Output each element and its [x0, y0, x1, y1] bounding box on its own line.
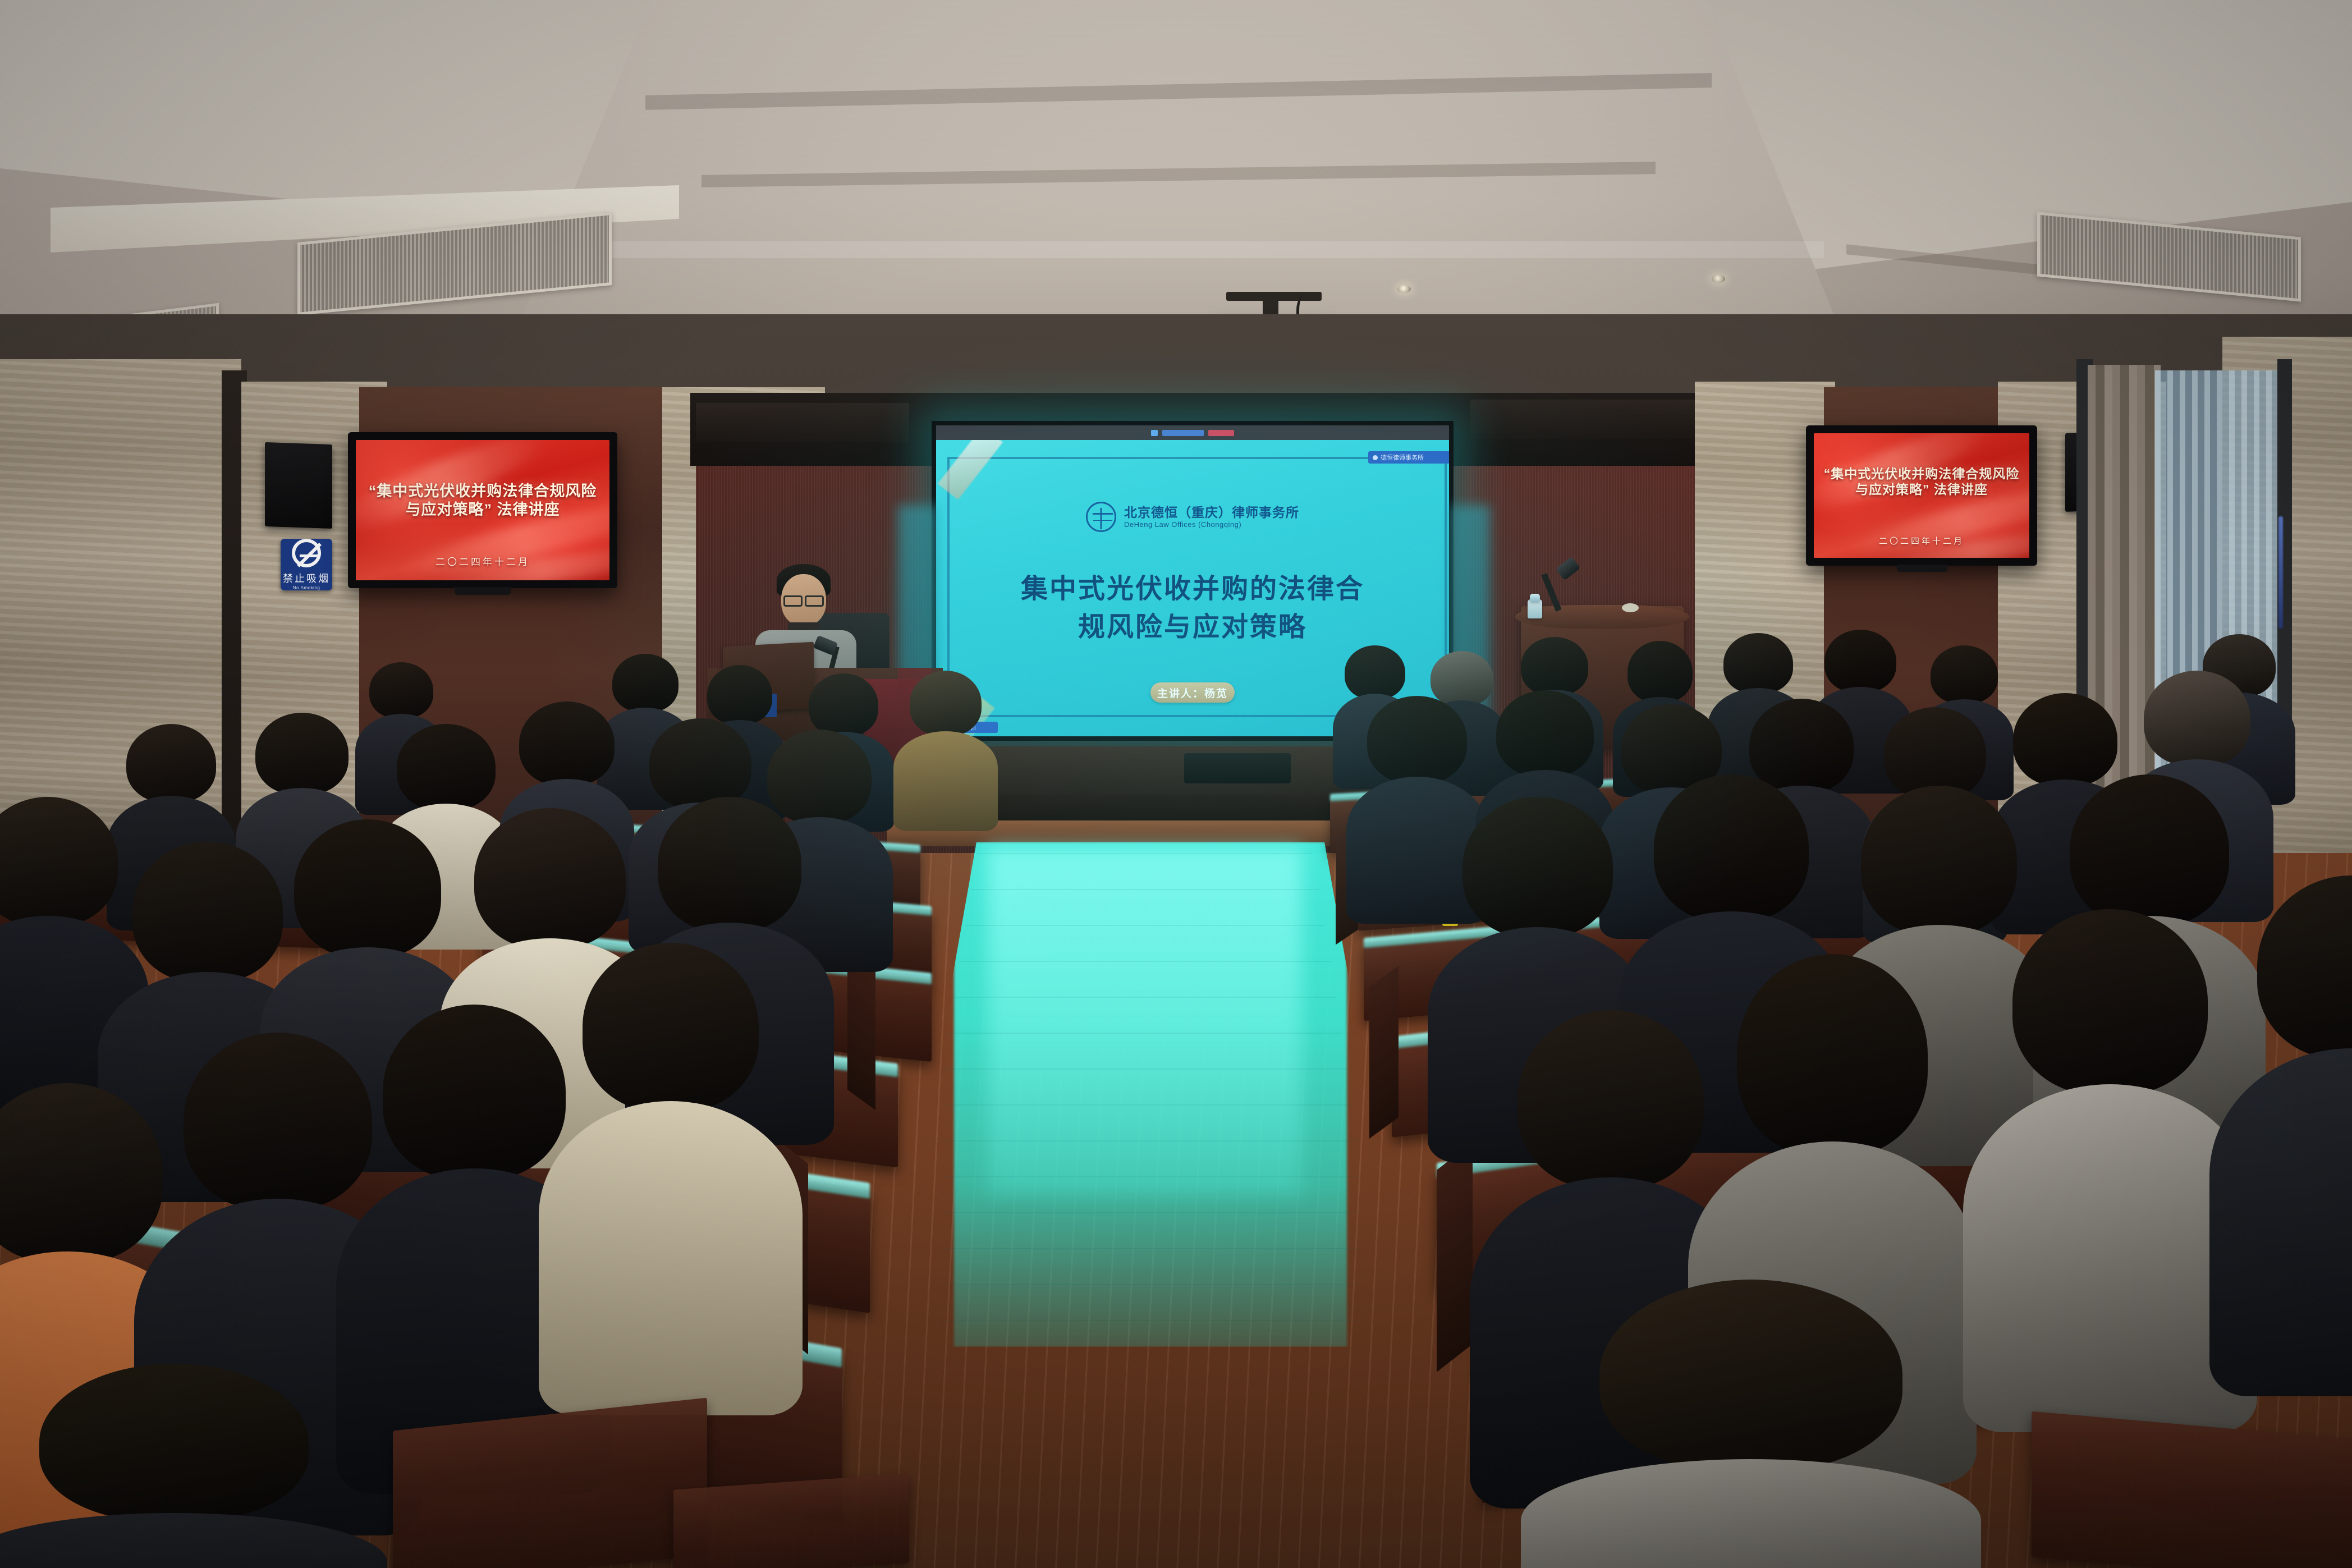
person-hair: [583, 943, 759, 1111]
downlight-6: [1712, 275, 1725, 283]
tv-right-date: 二〇二四年十二月: [1814, 535, 2029, 547]
person-hair: [2012, 909, 2208, 1094]
no-smoking-label-zh: 禁止吸烟: [283, 571, 330, 585]
person-hair: [474, 808, 626, 948]
person-hair: [2013, 693, 2117, 786]
tv-display-right: “集中式光伏收并购法律合规风险 与应对策略” 法律讲座 二〇二四年十二月: [1806, 425, 2037, 566]
bench-right-endcap-2: [1369, 966, 1399, 1139]
person-hair: [1517, 1010, 1704, 1189]
person-foreground-center: [1538, 1280, 1964, 1568]
person-front-17: [2222, 875, 2352, 1381]
tv-right-title: “集中式光伏收并购法律合规风险 与应对策略” 法律讲座: [1822, 466, 2020, 497]
taskbar-chip-title: [1162, 430, 1204, 436]
bench-right-endcap-3: [1437, 1142, 1473, 1372]
person-body: [893, 731, 998, 831]
firm-name-en: DeHeng Law Offices (Chongqing): [1124, 520, 1299, 529]
person-hair: [1931, 645, 1998, 704]
person-hair: [397, 724, 496, 810]
slide-firm-logo: 北京德恒（重庆）律师事务所 DeHeng Law Offices (Chongq…: [936, 502, 1449, 532]
person-hair: [2070, 774, 2229, 926]
person-hair: [126, 724, 216, 803]
person-hair: [369, 662, 433, 718]
soffit-panel-b: [1470, 400, 1695, 439]
person-body: [1521, 1459, 1981, 1568]
person-hair: [1345, 645, 1405, 699]
slide-title-line1: 集中式光伏收并购的法律合: [936, 570, 1449, 608]
person-hair: [1627, 641, 1693, 703]
tv-right-stand: [1897, 565, 1947, 572]
tv-left-stand: [455, 587, 511, 595]
person-hair: [1462, 797, 1613, 937]
no-smoking-sign: 禁止吸烟 No Smoking: [281, 539, 332, 590]
foreground-chair-right: [2032, 1411, 2352, 1568]
no-smoking-icon: [292, 539, 321, 567]
person-hair: [2257, 875, 2352, 1058]
slide-speaker-badge: 主讲人：杨苋: [1150, 682, 1235, 703]
aisle-plank-lines: [943, 853, 1358, 1336]
downlight-5: [1397, 285, 1411, 293]
ceiling-reveal-3: [533, 241, 1824, 258]
lectern-paper: [1622, 603, 1639, 612]
person-hair: [707, 665, 772, 725]
taskbar-chip-logo: [1151, 430, 1158, 436]
taskbar-chip-badge: [1208, 430, 1234, 436]
soffit-panel-a: [696, 403, 909, 442]
stage-center-speaker: [1184, 753, 1291, 783]
tv-left-title-line2: 与应对策略” 法律讲座: [366, 501, 599, 519]
person-front-9: [550, 943, 791, 1392]
corner-tag-dot: [1373, 455, 1378, 460]
tv-left-screen: “集中式光伏收并购法律合规风险 与应对策略” 法律讲座 二〇二四年十二月: [356, 440, 609, 580]
person-hair: [1599, 1280, 1902, 1470]
presenter-glasses-right: [805, 595, 824, 607]
person-hair: [519, 702, 615, 786]
projector-taskbar: [936, 425, 1449, 440]
tv-right-title-line2: 与应对策略” 法律讲座: [1822, 482, 2020, 497]
person-hair: [649, 718, 751, 809]
slide-corner-tag: 德恒律师事务所: [1368, 451, 1449, 464]
presenter-glasses-left: [783, 595, 803, 607]
foreground-chair-center: [673, 1473, 909, 1568]
person-hair: [0, 797, 118, 926]
conference-hall-photo: 禁止吸烟 No Smoking “集中式光伏收并购法律合规风险 与应对策略” 法…: [0, 0, 2352, 1568]
person-hair: [1496, 690, 1594, 777]
slide-title: 集中式光伏收并购的法律合 规风险与应对策略: [936, 570, 1449, 647]
person-hair: [294, 819, 441, 957]
person-hair: [1824, 630, 1896, 693]
person-hair: [1723, 633, 1793, 694]
person-hair: [2144, 671, 2250, 766]
person-hair: [809, 673, 878, 736]
person-back-13: [898, 671, 993, 811]
tv-display-left: “集中式光伏收并购法律合规风险 与应对策略” 法律讲座 二〇二四年十二月: [348, 432, 617, 588]
person-hair: [1521, 637, 1588, 695]
person-hair: [910, 671, 982, 736]
lectern-water-bottle: [1528, 599, 1542, 618]
tv-right-screen: “集中式光伏收并购法律合规风险 与应对策略” 法律讲座 二〇二四年十二月: [1814, 433, 2029, 558]
scales-of-justice-icon: [1086, 502, 1116, 532]
person-front-16: [1975, 909, 2245, 1414]
firm-name-zh: 北京德恒（重庆）律师事务所: [1124, 505, 1299, 520]
window-led-strip: [2278, 516, 2283, 629]
person-hair: [39, 1364, 309, 1521]
person-hair: [255, 713, 349, 795]
person-body: [0, 1513, 387, 1568]
person-hair: [658, 797, 801, 932]
slide-title-line2: 规风险与应对策略: [936, 608, 1449, 647]
person-hair: [1654, 774, 1809, 921]
tv-left-title: “集中式光伏收并购法律合规风险 与应对策略” 法律讲座: [366, 482, 599, 519]
person-hair: [0, 1083, 163, 1263]
tv-left-title-line1: “集中式光伏收并购法律合规风险: [366, 482, 599, 501]
person-hair: [132, 842, 283, 982]
person-hair: [1737, 954, 1928, 1156]
person-foreground-left: [0, 1364, 370, 1568]
tv-right-title-line1: “集中式光伏收并购法律合规风险: [1822, 466, 2020, 482]
no-smoking-label-en: No Smoking: [293, 585, 320, 590]
wall-speaker-left: [265, 442, 332, 529]
person-body: [2209, 1048, 2352, 1396]
tv-left-date: 二〇二四年十二月: [356, 554, 609, 568]
corner-tag-label: 德恒律师事务所: [1381, 453, 1424, 462]
person-hair: [1367, 696, 1467, 783]
person-hair: [383, 1005, 566, 1180]
person-hair: [184, 1033, 372, 1210]
lectern-bottle-cap: [1530, 594, 1540, 602]
person-body: [539, 1101, 803, 1415]
